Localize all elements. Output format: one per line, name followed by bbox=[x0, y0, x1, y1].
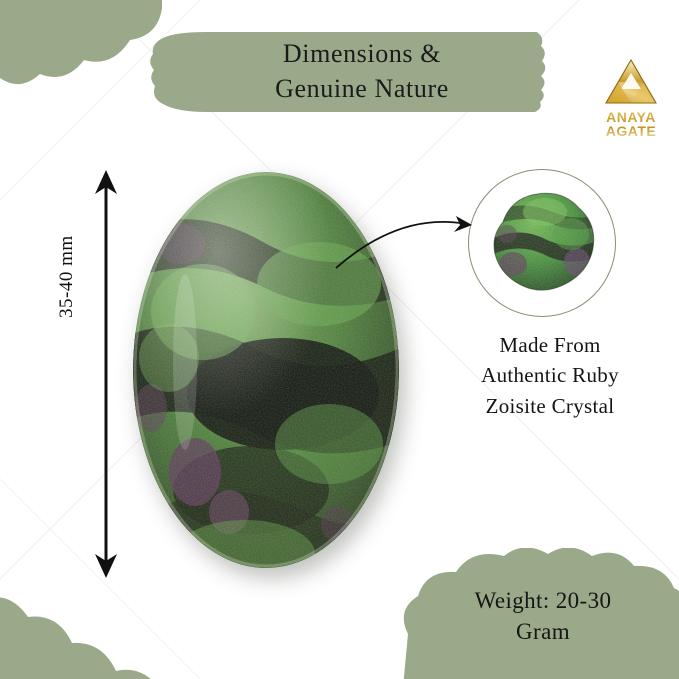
raw-crystal-inset bbox=[468, 169, 616, 317]
brand-name: ANAYA AGATE bbox=[606, 110, 656, 139]
decor-cloud-top-left bbox=[0, 0, 162, 98]
infographic-canvas: Dimensions & Genuine Nature bbox=[0, 0, 679, 679]
banner-title-line1: Dimensions & bbox=[283, 37, 441, 70]
caption-line1: Made From bbox=[430, 330, 670, 360]
header-banner: Dimensions & Genuine Nature bbox=[147, 24, 577, 118]
caption-line2: Authentic Ruby bbox=[430, 360, 670, 390]
brand-logo: ANAYA AGATE bbox=[587, 57, 675, 139]
dimension-label: 35-40 mm bbox=[56, 235, 78, 318]
pointer-arrow-to-inset bbox=[330, 198, 480, 278]
triangle-emblem-icon bbox=[603, 57, 659, 107]
raw-crystal-artwork bbox=[469, 170, 615, 316]
banner-title-line2: Genuine Nature bbox=[275, 72, 449, 105]
brand-name-line2: AGATE bbox=[606, 124, 656, 138]
caption-line3: Zoisite Crystal bbox=[430, 391, 670, 421]
brand-name-line1: ANAYA bbox=[606, 110, 656, 124]
weight-line2: Gram bbox=[516, 617, 570, 647]
product-caption: Made From Authentic Ruby Zoisite Crystal bbox=[430, 330, 670, 421]
banner-title: Dimensions & Genuine Nature bbox=[147, 24, 577, 118]
weight-line1: Weight: 20-30 bbox=[475, 586, 612, 616]
dimension-arrow-vertical bbox=[86, 168, 126, 580]
weight-badge-text: Weight: 20-30 Gram bbox=[398, 548, 679, 679]
decor-cloud-bottom-left bbox=[0, 569, 160, 679]
